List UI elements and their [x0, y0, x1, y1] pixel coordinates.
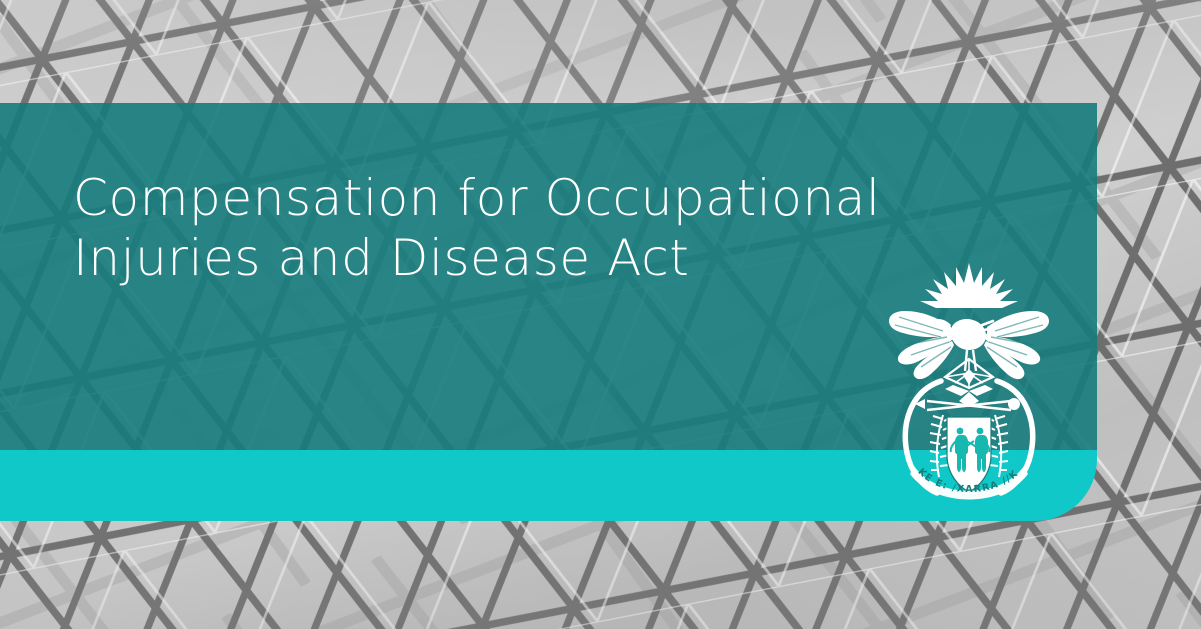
page-title: Compensation for Occupational Injuries a…	[73, 168, 953, 288]
coat-of-arms-icon: !KE E: /XARRA //KE	[881, 255, 1057, 500]
protea-motif-icon	[945, 359, 993, 407]
shield-icon	[947, 417, 991, 492]
poster-canvas: Compensation for Occupational Injuries a…	[0, 0, 1201, 629]
coat-of-arms-emblem: !KE E: /XARRA //KE	[881, 255, 1057, 500]
